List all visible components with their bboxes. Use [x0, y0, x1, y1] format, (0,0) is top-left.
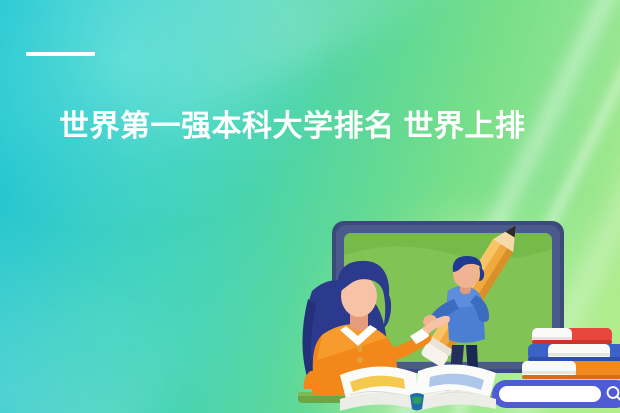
- background-glow-bottom-left: [0, 150, 310, 413]
- decorative-rule: [26, 52, 95, 56]
- stacked-books: [522, 328, 620, 379]
- open-book: [340, 364, 496, 411]
- red-book: [532, 328, 612, 344]
- page-title: 世界第一强本科大学排名 世界上排: [59, 108, 620, 146]
- education-search-illustration: [270, 195, 620, 413]
- banner-image: 世界第一强本科大学排名 世界上排: [0, 0, 620, 413]
- orange-book: [522, 361, 620, 379]
- blue-book: [528, 344, 620, 361]
- search-bar[interactable]: [492, 380, 620, 408]
